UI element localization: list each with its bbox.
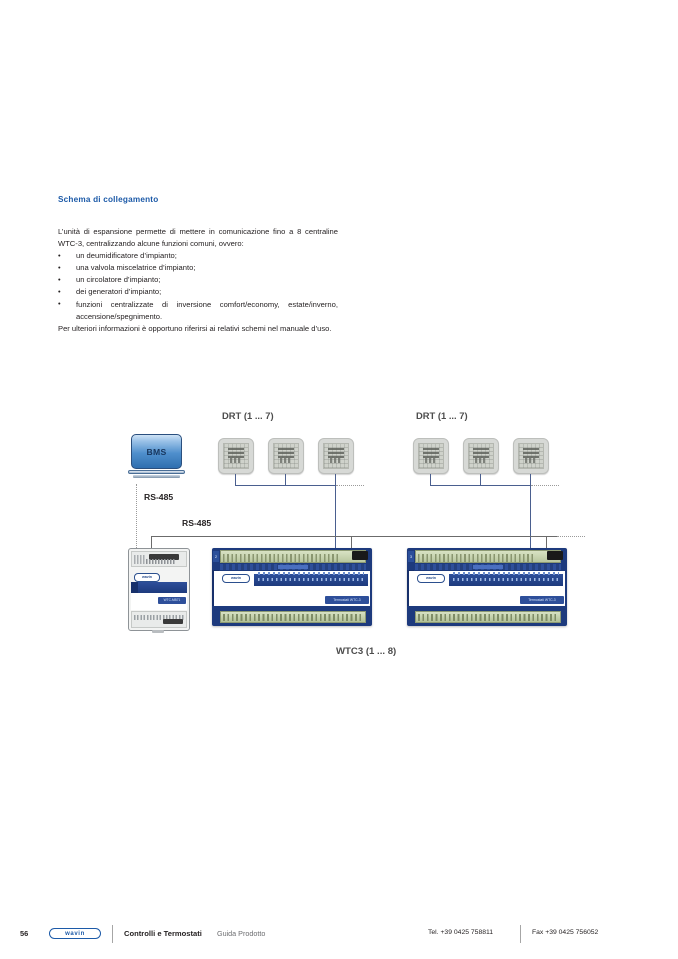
wtc3-controller: 2 wavin Termostati WTC-3 [212,548,372,626]
feature-bullet-list: un deumidificatore d’impianto; una valvo… [58,250,338,323]
wtc3-led-row-top [453,572,559,575]
drt-sub-segments [330,458,342,463]
wtc3-module-index: 2 [213,551,219,562]
page-number: 56 [20,929,28,938]
drt-digits [328,448,344,458]
main-bus-continuation [557,536,585,537]
drt-bus-right-continuation [531,485,559,486]
wtc3-led-row-bottom [453,578,559,581]
drt-drop-wire [335,474,336,485]
bms-laptop-icon: BMS [128,434,185,479]
expansion-connector-strip [146,559,176,564]
page-footer: 56 wavin Controlli e Termostati Guida Pr… [20,925,658,947]
wtc3-module-index: 3 [408,551,414,562]
wtc3-top-terminal-block [415,550,561,563]
wtc3-dip-strip [415,564,561,570]
expansion-model-tag: WTC-MB71 [158,597,186,604]
footer-divider [112,925,113,943]
expansion-blue-tab [131,582,138,593]
drt-thermostat [463,438,499,474]
bms-base [133,475,180,478]
bullet-text: un circolatore d’impianto; [76,274,338,286]
footer-title: Controlli e Termostati [124,929,202,938]
drt-lcd-display [518,443,544,469]
drt-bus-left-continuation [336,485,364,486]
wtc3-controller: 3 wavin Termostati WTC-3 [407,548,567,626]
drt-lcd-display [223,443,249,469]
wtc3-top-terminal-block [220,550,366,563]
drt-thermostat [513,438,549,474]
bms-hinge [128,470,185,474]
footer-telephone: Tel. +39 0425 758811 [428,929,493,936]
expansion-unit-module: wavin WTC-MB71 [128,548,190,631]
footer-divider [520,925,521,943]
drt-lcd-display [468,443,494,469]
list-item: una valvola miscelatrice d’impianto; [58,262,338,274]
wavin-brand-mark: wavin [417,574,445,583]
drt-digits [278,448,294,458]
page-section-heading: Schema di collegamento [58,195,158,204]
bullet-text: un deumidificatore d’impianto; [76,250,338,262]
intro-paragraph: L’unità di espansione permette di metter… [58,226,338,250]
drt-drop-wire [235,474,236,485]
expansion-din-foot [152,630,164,633]
rs485-label-vertical: RS-485 [144,492,173,502]
drt-bus-right [430,485,531,486]
drt-digits [523,448,539,458]
wavin-logo-text: wavin [65,931,85,937]
drt-drop-wire [285,474,286,485]
footer-fax: Fax +39 0425 756052 [532,929,598,936]
wtc3-group-caption: WTC3 (1 ... 8) [336,646,396,657]
drt-drop-wire [530,474,531,485]
bms-rs485-dotted-link [136,484,137,548]
wavin-brand-mark: wavin [134,573,160,582]
drt-sub-segments [425,458,437,463]
footer-subtitle: Guida Prodotto [217,929,265,938]
drt-sub-segments [475,458,487,463]
bms-label: BMS [147,447,167,457]
drt-lcd-display [418,443,444,469]
wtc3-bottom-terminal-block [220,611,366,623]
list-item: un circolatore d’impianto; [58,274,338,286]
drt-drop-wire [430,474,431,485]
expansion-blue-band [131,582,187,593]
document-page: Schema di collegamento L’unità di espans… [0,0,678,959]
drt-sub-segments [280,458,292,463]
drt-lcd-display [323,443,349,469]
wtc3-top-port [352,551,368,560]
list-item: un deumidificatore d’impianto; [58,250,338,262]
bullet-text: dei generatori d’impianto; [76,286,338,298]
drt-group-label-left: DRT (1 ... 7) [222,410,274,421]
drt-thermostat [318,438,354,474]
drt-sub-segments [525,458,537,463]
outro-paragraph: Per ulteriori informazioni è opportuno r… [58,323,338,335]
drt-digits [423,448,439,458]
main-rs485-bus [151,536,558,537]
drt-group-label-right: DRT (1 ... 7) [416,410,468,421]
drt-thermostat [268,438,304,474]
wtc3-led-row-top [258,572,364,575]
wtc3-dip-strip [220,564,366,570]
bullet-text: una valvola miscelatrice d’impianto; [76,262,338,274]
list-item: dei generatori d’impianto; [58,286,338,298]
drt-thermostat [413,438,449,474]
drt-riser-right [530,485,531,553]
wavin-logo: wavin [49,928,101,939]
drt-digits [473,448,489,458]
wtc3-model-tag: Termostati WTC-3 [325,596,369,604]
bullet-text: funzioni centralizzate di inversione com… [76,299,338,323]
bms-screen: BMS [131,434,182,469]
connection-schematic: DRT (1 ... 7) DRT (1 ... 7) BMS [100,408,590,708]
drt-lcd-display [273,443,299,469]
rs485-label-horizontal: RS-485 [182,518,211,528]
drt-bus-left [235,485,336,486]
body-copy: L’unità di espansione permette di metter… [58,226,338,335]
wtc3-model-tag: Termostati WTC-3 [520,596,564,604]
wtc3-bottom-terminal-block [415,611,561,623]
drt-thermostat [218,438,254,474]
drt-digits [228,448,244,458]
expansion-bottom-terminal [131,611,187,628]
wavin-brand-mark: wavin [222,574,250,583]
wtc3-top-port [547,551,563,560]
drt-sub-segments [230,458,242,463]
list-item: funzioni centralizzate di inversione com… [58,299,338,323]
drt-riser-left [335,485,336,553]
wtc3-led-row-bottom [258,578,364,581]
drt-drop-wire [480,474,481,485]
